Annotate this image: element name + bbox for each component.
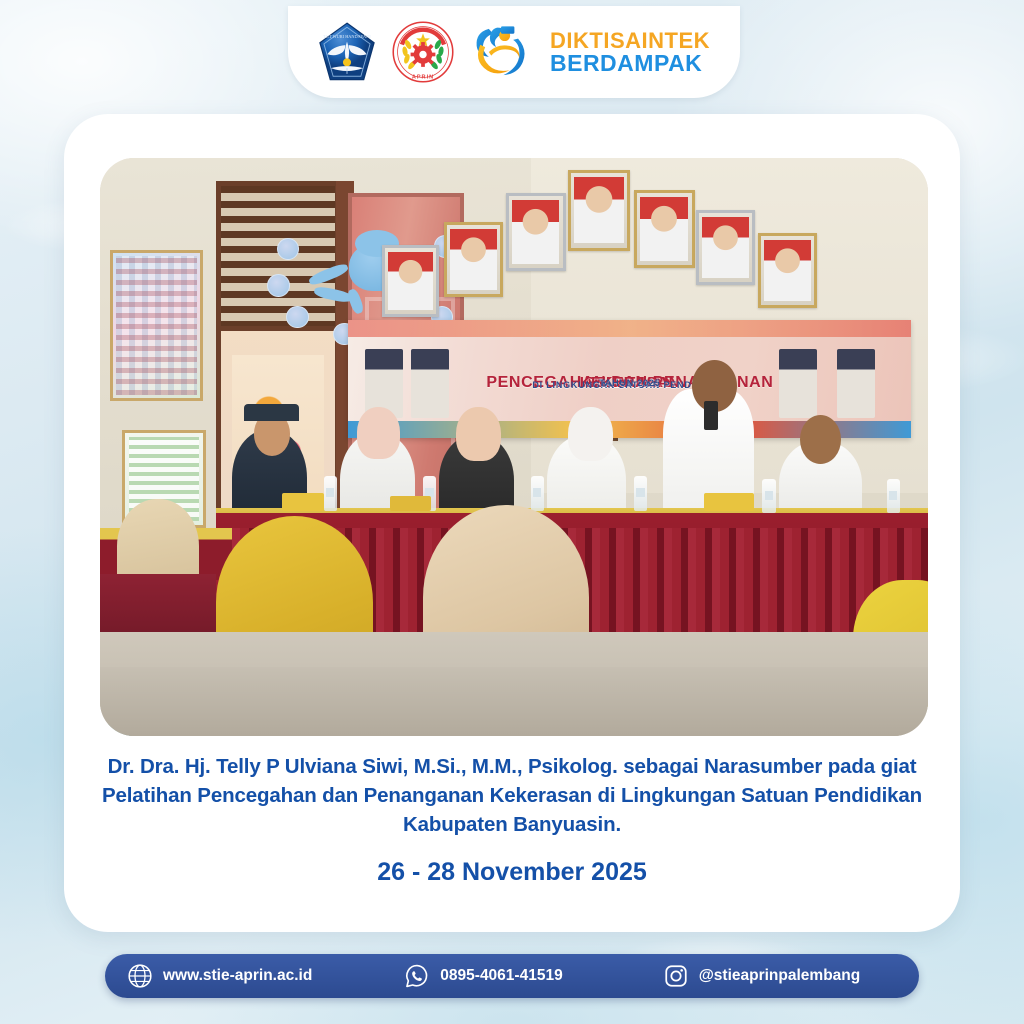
panelist-hijab bbox=[357, 407, 400, 459]
snack-tray bbox=[390, 496, 431, 511]
brand-line-2: BERDAMPAK bbox=[550, 52, 710, 75]
brand-line-1: DIKTISAINTEK bbox=[550, 30, 710, 52]
portrait-frame bbox=[444, 222, 504, 297]
event-photo: PELATIHAN PENCEGAHAN DAN PENANGANAN KEKE… bbox=[100, 158, 928, 736]
water-bottle bbox=[634, 476, 647, 511]
water-bottle bbox=[762, 479, 775, 514]
portrait-frame bbox=[382, 245, 439, 317]
portrait-frame bbox=[634, 190, 695, 268]
panelist-hijab bbox=[568, 407, 613, 462]
wall-poster-large bbox=[110, 250, 203, 401]
microphone-icon bbox=[704, 401, 717, 430]
footer-phone-label: 0895-4061-41519 bbox=[440, 967, 562, 985]
footer-whatsapp[interactable]: 0895-4061-41519 bbox=[404, 963, 562, 989]
whatsapp-icon bbox=[404, 963, 430, 989]
tut-wuri-handayani-logo: TUT WURI HANDAYANI bbox=[318, 22, 376, 82]
portrait-frame bbox=[696, 210, 755, 285]
water-bottle bbox=[324, 476, 337, 511]
instagram-icon bbox=[663, 963, 689, 989]
floor-foreground bbox=[100, 667, 928, 736]
svg-text:TUT WURI HANDAYANI: TUT WURI HANDAYANI bbox=[323, 34, 371, 39]
header-logo-bar: TUT WURI HANDAYANI bbox=[288, 6, 740, 98]
caption-body: Dr. Dra. Hj. Telly P Ulviana Siwi, M.Si.… bbox=[78, 752, 946, 839]
caption-date: 26 - 28 November 2025 bbox=[78, 858, 946, 887]
snack-tray bbox=[704, 493, 754, 510]
footer-website[interactable]: www.stie-aprin.ac.id bbox=[127, 963, 312, 989]
footer-website-label: www.stie-aprin.ac.id bbox=[163, 967, 312, 985]
diktisaintek-wordmark: DIKTISAINTEK BERDAMPAK bbox=[550, 30, 710, 75]
water-bottle bbox=[887, 479, 900, 514]
snack-tray bbox=[282, 493, 323, 510]
footer-instagram-label: @stieaprinpalembang bbox=[699, 967, 861, 985]
svg-text:APRIN: APRIN bbox=[412, 75, 434, 81]
footer-instagram[interactable]: @stieaprinpalembang bbox=[663, 963, 861, 989]
footer-contact-bar: www.stie-aprin.ac.id 0895-4061-41519 @st… bbox=[105, 954, 919, 998]
portrait-frame bbox=[758, 233, 817, 308]
diktisaintek-mark-icon bbox=[470, 24, 532, 80]
police-cap bbox=[244, 404, 299, 421]
banner-line-5: TAHUN 2025 bbox=[599, 378, 660, 388]
portrait-frame bbox=[506, 193, 566, 271]
water-bottle bbox=[531, 476, 544, 511]
panelist-head bbox=[800, 415, 841, 464]
stie-aprin-logo: APRIN bbox=[392, 21, 454, 83]
panelist-hijab bbox=[456, 407, 501, 462]
globe-icon bbox=[127, 963, 153, 989]
portrait-frame bbox=[568, 170, 630, 251]
